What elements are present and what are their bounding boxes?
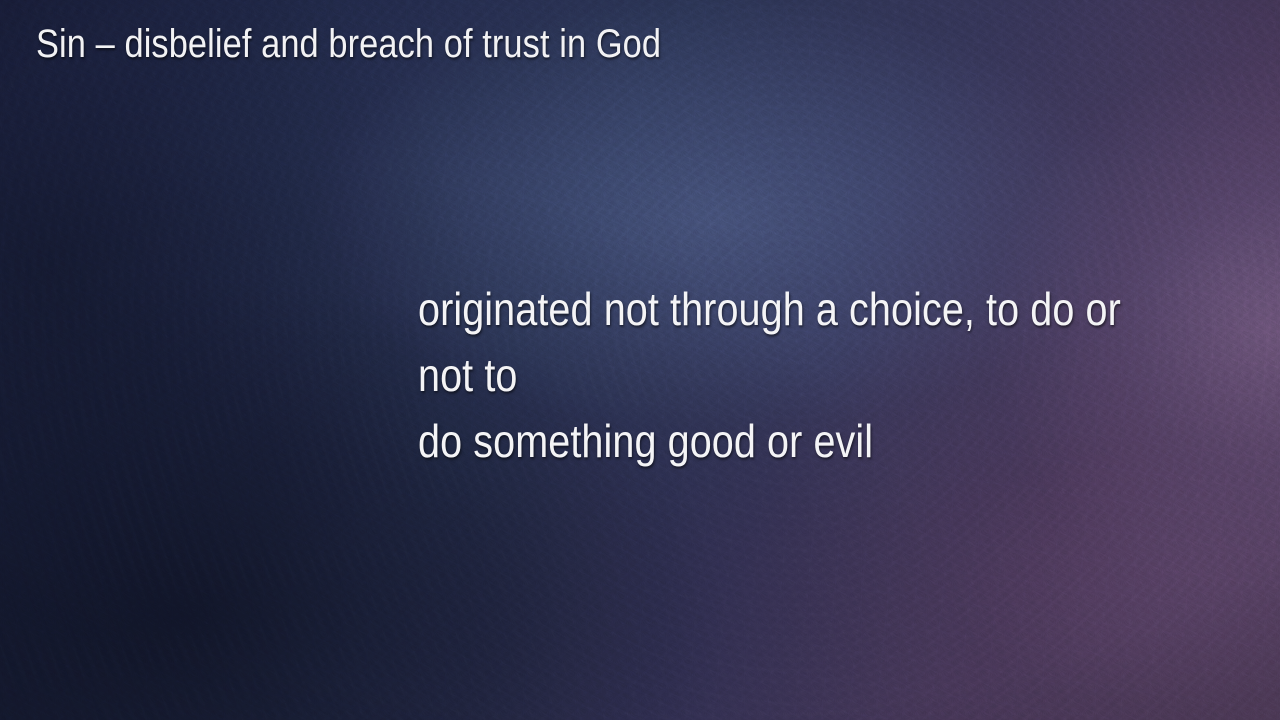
body-line: do something good or evil [418, 408, 1248, 474]
presentation-slide: Sin – disbelief and breach of trust in G… [0, 0, 1280, 720]
body-line-text: originated not through a choice, to do o… [418, 276, 1132, 408]
body-line-text: do something good or evil [418, 408, 873, 474]
slide-body-text: originated not through a choice, to do o… [418, 276, 1248, 474]
body-line: originated not through a choice, to do o… [418, 276, 1248, 408]
slide-title: Sin – disbelief and breach of trust in G… [36, 22, 1216, 67]
slide-title-text: Sin – disbelief and breach of trust in G… [36, 22, 661, 67]
